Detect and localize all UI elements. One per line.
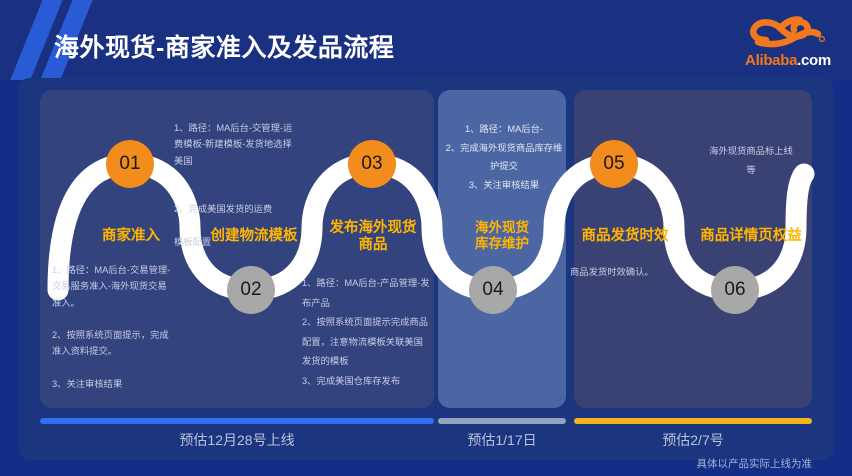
step-body-03: 1、路径：MA后台-产品管理-发布产品 2、按照系统页面提示完成商品配置，注意物… bbox=[302, 274, 432, 391]
page-title: 海外现货-商家准入及发品流程 bbox=[54, 28, 394, 64]
step-marker-05[interactable]: 05 bbox=[590, 140, 638, 188]
step-body-06: 海外现货商品标上线 等 bbox=[686, 142, 816, 179]
step-title-04: 海外现货 库存维护 bbox=[452, 220, 552, 251]
step-marker-04[interactable]: 04 bbox=[469, 266, 517, 314]
step-number-05: 05 bbox=[603, 153, 624, 175]
timeline-bar-phase-two bbox=[438, 418, 566, 424]
panel-phase-three bbox=[574, 90, 812, 408]
logo-domain: .com bbox=[797, 52, 831, 69]
step-body-05: 商品发货时效确认。 bbox=[570, 264, 690, 280]
step-body-01: 1、路径：MA后台-交易管理-交易服务准入-海外现货交易准入。 2、按照系统页面… bbox=[52, 262, 172, 392]
alibaba-mark-icon bbox=[736, 12, 840, 56]
step-marker-01[interactable]: 01 bbox=[106, 140, 154, 188]
step-number-04: 04 bbox=[482, 279, 503, 301]
timeline-date-phase-three: 预估2/7号 bbox=[574, 430, 812, 450]
step-number-03: 03 bbox=[361, 153, 382, 175]
step-title-05: 商品发货时效 bbox=[570, 228, 680, 245]
logo-brand: Alibaba bbox=[745, 52, 797, 69]
step-title-01: 商家准入 bbox=[78, 228, 184, 245]
header-bar: 海外现货-商家准入及发品流程 Alibaba.com bbox=[0, 0, 852, 80]
alibaba-logo-text: Alibaba.com bbox=[736, 52, 840, 69]
timeline-bar-phase-one bbox=[40, 418, 434, 424]
step-marker-03[interactable]: 03 bbox=[348, 140, 396, 188]
step-number-06: 06 bbox=[724, 279, 745, 301]
timeline-date-phase-two: 预估1/17日 bbox=[438, 430, 566, 450]
timeline-bar-phase-three bbox=[574, 418, 812, 424]
timeline-date-phase-one: 预估12月28号上线 bbox=[40, 430, 434, 450]
alibaba-logo: Alibaba.com bbox=[736, 12, 840, 70]
footer-note: 具体以产品实际上线为准 bbox=[697, 456, 813, 471]
step-body-02: 1、路径：MA后台-交管理-运费模板-新建模板-发货地选择美国 2、完成美国发货… bbox=[174, 120, 300, 250]
step-number-02: 02 bbox=[240, 279, 261, 301]
step-marker-02[interactable]: 02 bbox=[227, 266, 275, 314]
step-title-03: 发布海外现货 商品 bbox=[320, 220, 426, 253]
content-stage: 01 02 03 04 05 06 商家准入 创建物流模板 发布海外现货 商品 … bbox=[18, 78, 834, 460]
step-title-06: 商品详情页权益 bbox=[686, 228, 816, 245]
step-number-01: 01 bbox=[119, 153, 140, 175]
slide-canvas: 海外现货-商家准入及发品流程 Alibaba.com 01 02 03 bbox=[0, 0, 852, 476]
step-body-04: 1、路径：MA后台- 2、完成海外现货商品库存维护提交 3、关注审核结果 bbox=[444, 120, 564, 194]
step-marker-06[interactable]: 06 bbox=[711, 266, 759, 314]
